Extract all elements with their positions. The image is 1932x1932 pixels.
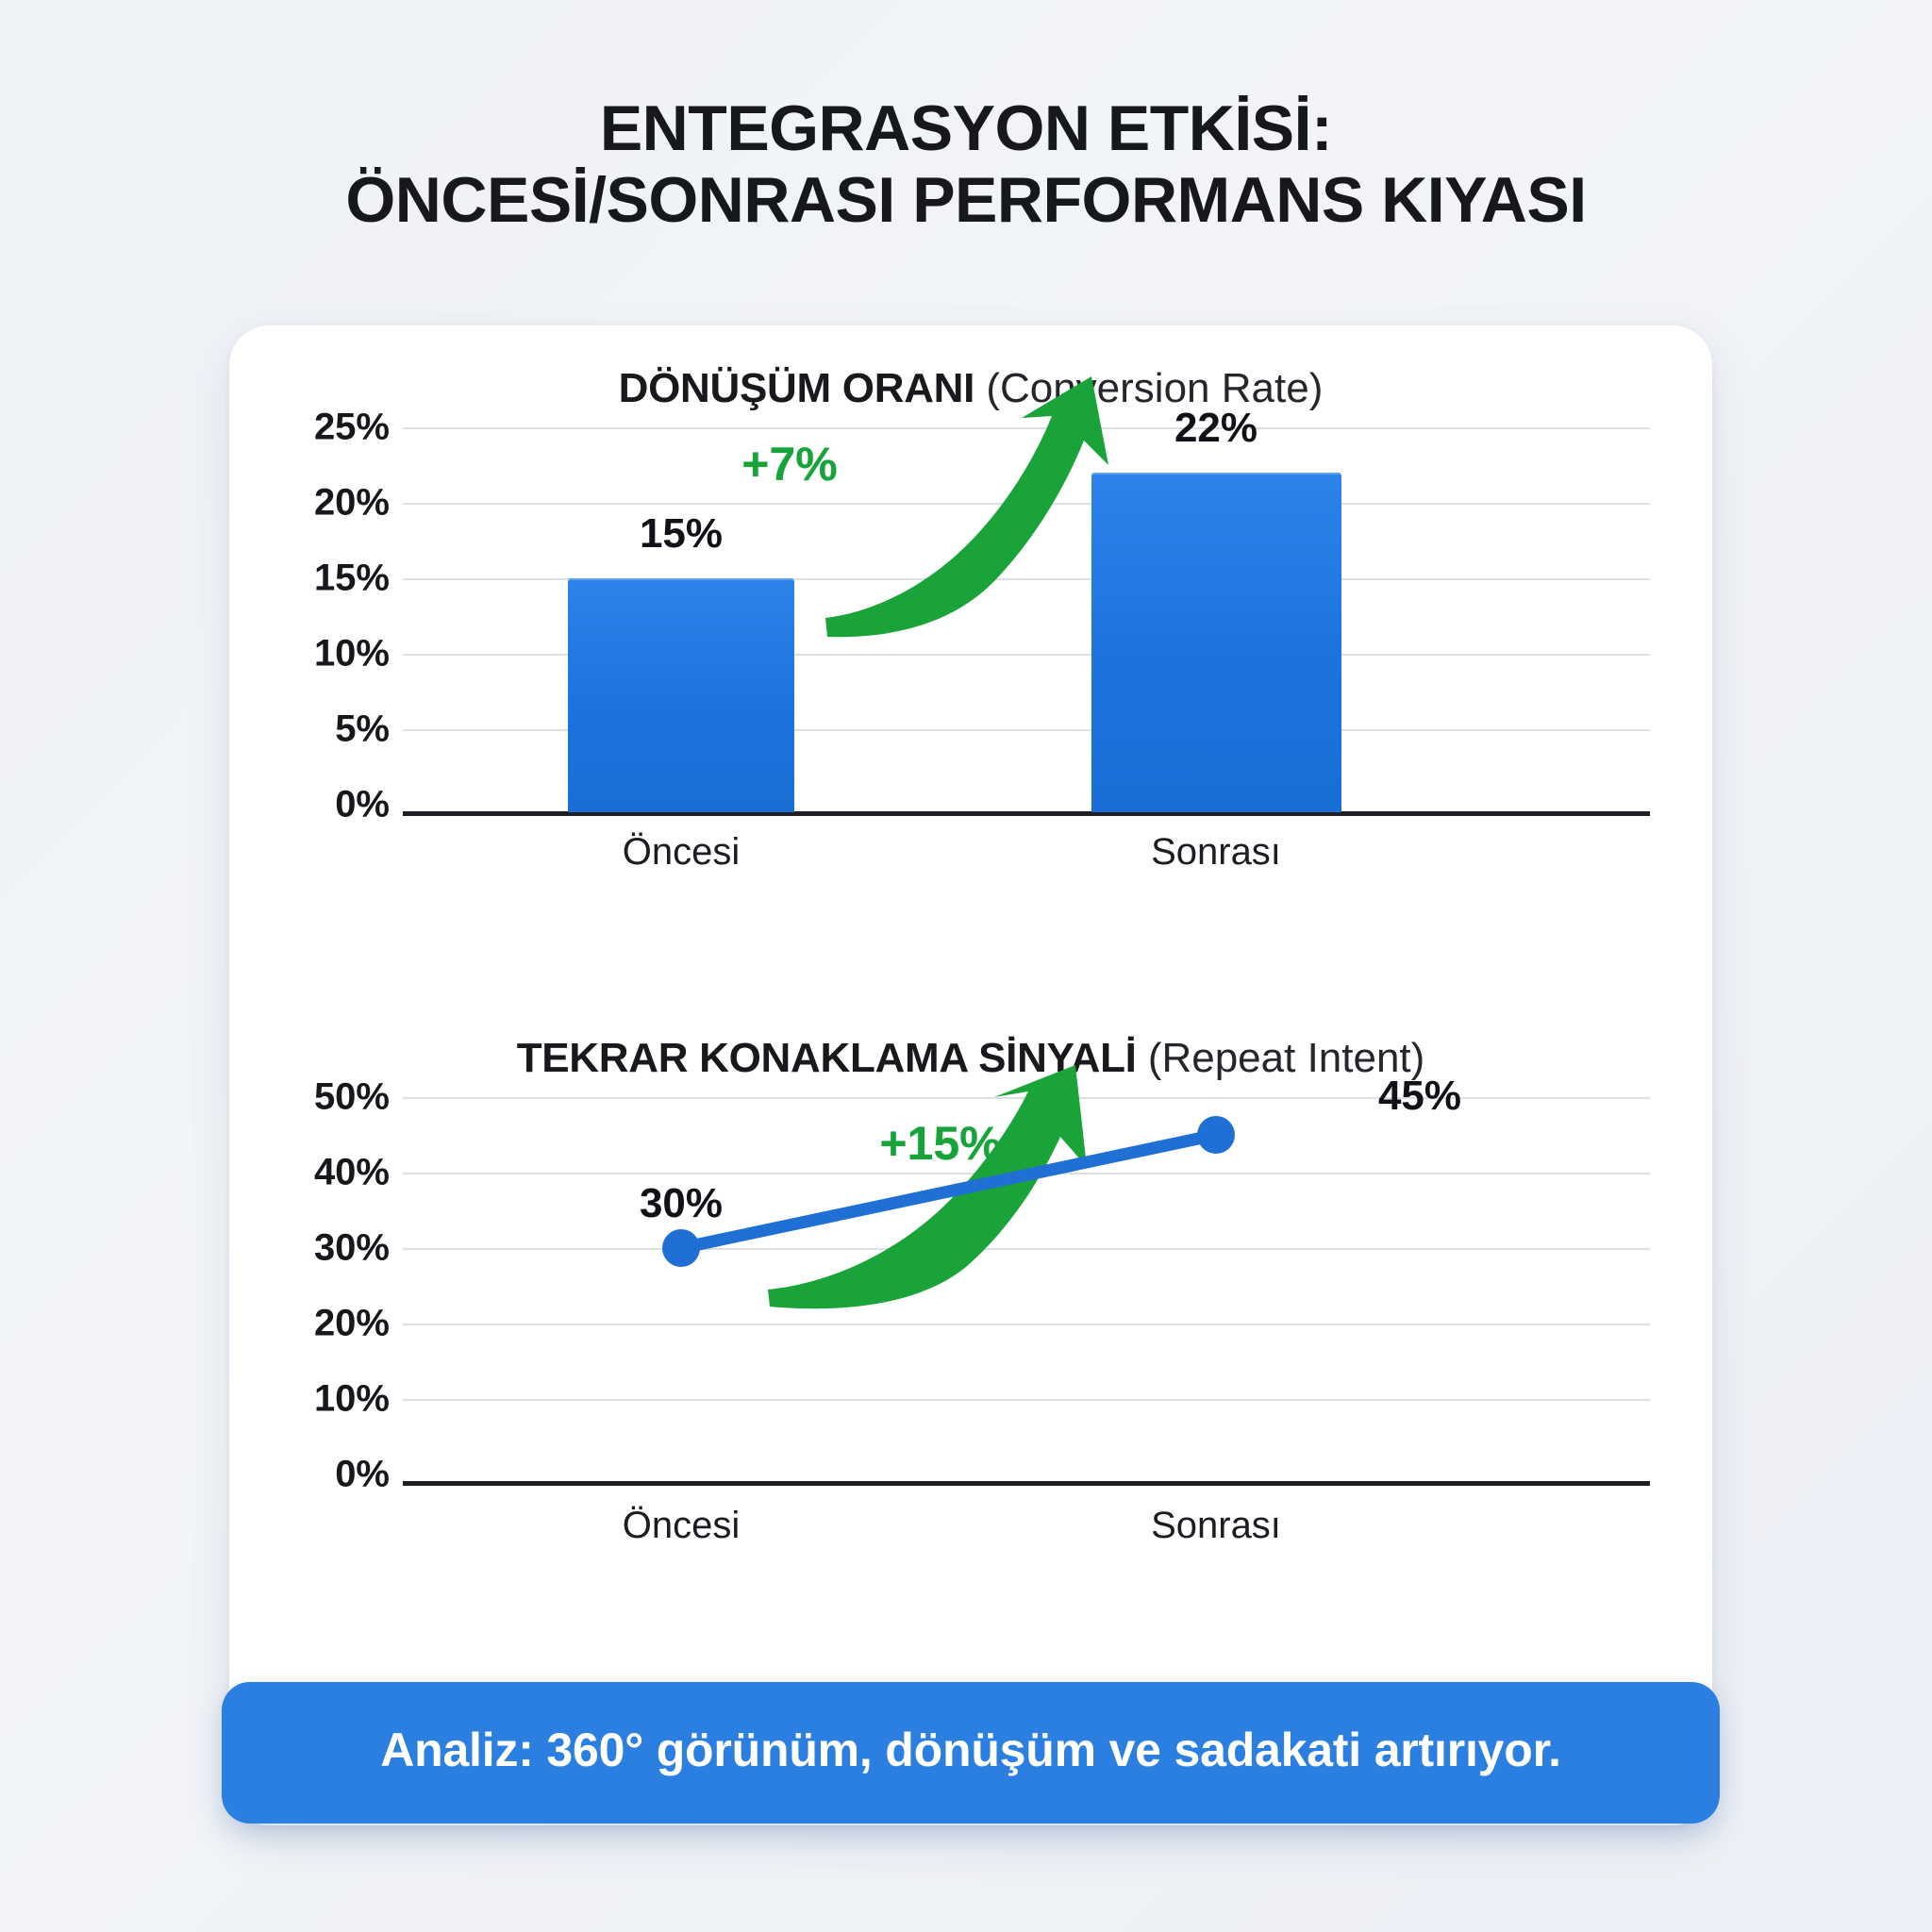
- chart-conversion-rate: DÖNÜŞÜM ORANI (Conversion Rate) 25% 20% …: [229, 365, 1712, 1016]
- data-point-oncesi: [662, 1229, 700, 1267]
- data-point-sonrasi: [1197, 1116, 1235, 1154]
- summary-banner: Analiz: 360° görünüm, dönüşüm ve sadakat…: [222, 1682, 1720, 1824]
- chart-1-ytick-5: 5%: [335, 708, 390, 751]
- chart-1-xtick-sonrasi: Sonrası: [1151, 831, 1281, 874]
- chart-2-title-main: TEKRAR KONAKLAMA SİNYALİ: [517, 1035, 1137, 1081]
- infographic-page: ENTEGRASYON ETKİSİ: ÖNCESİ/SONRASI PERFO…: [0, 0, 1932, 1932]
- chart-1-ytick-20: 20%: [314, 482, 390, 525]
- chart-2-ytick-30: 30%: [314, 1227, 390, 1270]
- page-title-line-1: ENTEGRASYON ETKİSİ:: [600, 92, 1332, 164]
- bar-value-oncesi: 15%: [640, 510, 723, 558]
- chart-2-ytick-40: 40%: [314, 1152, 390, 1194]
- bar-sonrasi[interactable]: [1091, 473, 1341, 812]
- chart-1-canvas: 15% 22% +7%: [403, 420, 1650, 816]
- chart-1-gridline-25: [403, 427, 1650, 429]
- chart-1-title-main: DÖNÜŞÜM ORANI: [619, 365, 974, 411]
- chart-1-title-sub: (Conversion Rate): [986, 365, 1323, 411]
- chart-2-xtick-oncesi: Öncesi: [623, 1505, 741, 1547]
- bar-oncesi[interactable]: [568, 578, 794, 812]
- chart-1-ytick-15: 15%: [314, 558, 390, 600]
- chart-1-xtick-oncesi: Öncesi: [623, 831, 741, 874]
- chart-2-ytick-0: 0%: [335, 1454, 390, 1496]
- point-value-sonrasi: 45%: [1378, 1073, 1461, 1120]
- chart-2-plot-area: 50% 40% 30% 20% 10% 0%: [291, 1090, 1650, 1486]
- chart-2-line-series: [403, 1090, 1650, 1486]
- chart-2-y-axis: 50% 40% 30% 20% 10% 0%: [291, 1090, 390, 1486]
- chart-1-gridline-20: [403, 503, 1650, 505]
- charts-card: DÖNÜŞÜM ORANI (Conversion Rate) 25% 20% …: [229, 325, 1712, 1825]
- point-value-oncesi: 30%: [640, 1180, 723, 1227]
- chart-2-xtick-sonrasi: Sonrası: [1151, 1505, 1281, 1547]
- chart-2-ytick-50: 50%: [314, 1076, 390, 1119]
- chart-1-y-axis: 25% 20% 15% 10% 5% 0%: [291, 420, 390, 816]
- chart-2-delta-label: +15%: [879, 1116, 1001, 1171]
- page-title: ENTEGRASYON ETKİSİ: ÖNCESİ/SONRASI PERFO…: [0, 92, 1932, 236]
- chart-2-canvas: 30% 45% +15%: [403, 1090, 1650, 1486]
- growth-arrow-icon: [808, 375, 1120, 639]
- chart-1-ytick-0: 0%: [335, 784, 390, 826]
- chart-1-plot-area: 25% 20% 15% 10% 5% 0%: [291, 420, 1650, 816]
- page-title-line-2: ÖNCESİ/SONRASI PERFORMANS KIYASI: [0, 164, 1932, 236]
- chart-repeat-intent: TEKRAR KONAKLAMA SİNYALİ (Repeat Intent)…: [229, 1035, 1712, 1667]
- bar-value-sonrasi: 22%: [1174, 405, 1257, 452]
- chart-1-ytick-10: 10%: [314, 633, 390, 675]
- chart-2-ytick-20: 20%: [314, 1303, 390, 1345]
- chart-1-title: DÖNÜŞÜM ORANI (Conversion Rate): [229, 365, 1712, 412]
- summary-banner-text: Analiz: 360° görünüm, dönüşüm ve sadakat…: [380, 1723, 1561, 1777]
- chart-1-ytick-25: 25%: [314, 407, 390, 449]
- chart-2-ytick-10: 10%: [314, 1378, 390, 1421]
- chart-1-delta-label: +7%: [741, 437, 837, 491]
- chart-2-title: TEKRAR KONAKLAMA SİNYALİ (Repeat Intent): [229, 1035, 1712, 1082]
